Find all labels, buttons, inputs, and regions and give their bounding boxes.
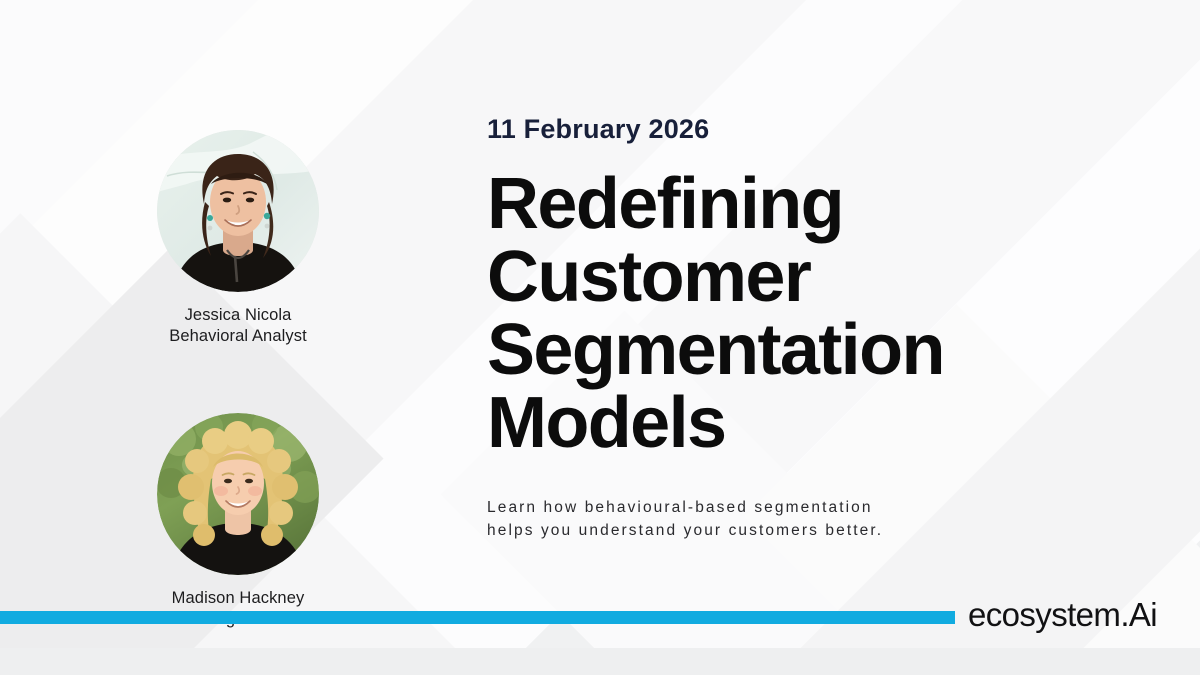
speaker-name: Jessica Nicola	[118, 305, 358, 326]
event-subtitle-line: helps you understand your customers bett…	[487, 519, 1087, 542]
accent-bar	[0, 611, 955, 624]
event-date: 11 February 2026	[487, 112, 1127, 146]
avatar-photo-jessica-nicola	[157, 130, 319, 292]
event-title-line: Models	[487, 387, 1107, 460]
event-subtitle: Learn how behavioural-based segmentation…	[487, 496, 1087, 542]
event-title: Redefining Customer Segmentation Models	[487, 168, 1107, 460]
brand-logo: ecosystem.Ai	[968, 596, 1157, 634]
avatar-photo-madison-hackney	[157, 413, 319, 575]
webinar-promo-slide: Jessica Nicola Behavioral Analyst	[0, 0, 1200, 675]
event-title-line: Segmentation	[487, 314, 1107, 387]
speaker-card-jessica-nicola: Jessica Nicola Behavioral Analyst	[118, 130, 358, 347]
event-content: 11 February 2026 Redefining Customer Seg…	[487, 112, 1127, 542]
event-subtitle-line: Learn how behavioural-based segmentation	[487, 496, 1087, 519]
event-title-line: Redefining	[487, 168, 1107, 241]
speaker-card-madison-hackney: Madison Hackney Marketing and Sales	[118, 413, 358, 630]
speaker-list: Jessica Nicola Behavioral Analyst	[118, 130, 358, 630]
event-title-line: Customer	[487, 241, 1107, 314]
speaker-role: Behavioral Analyst	[118, 326, 358, 347]
speaker-name: Madison Hackney	[118, 588, 358, 609]
